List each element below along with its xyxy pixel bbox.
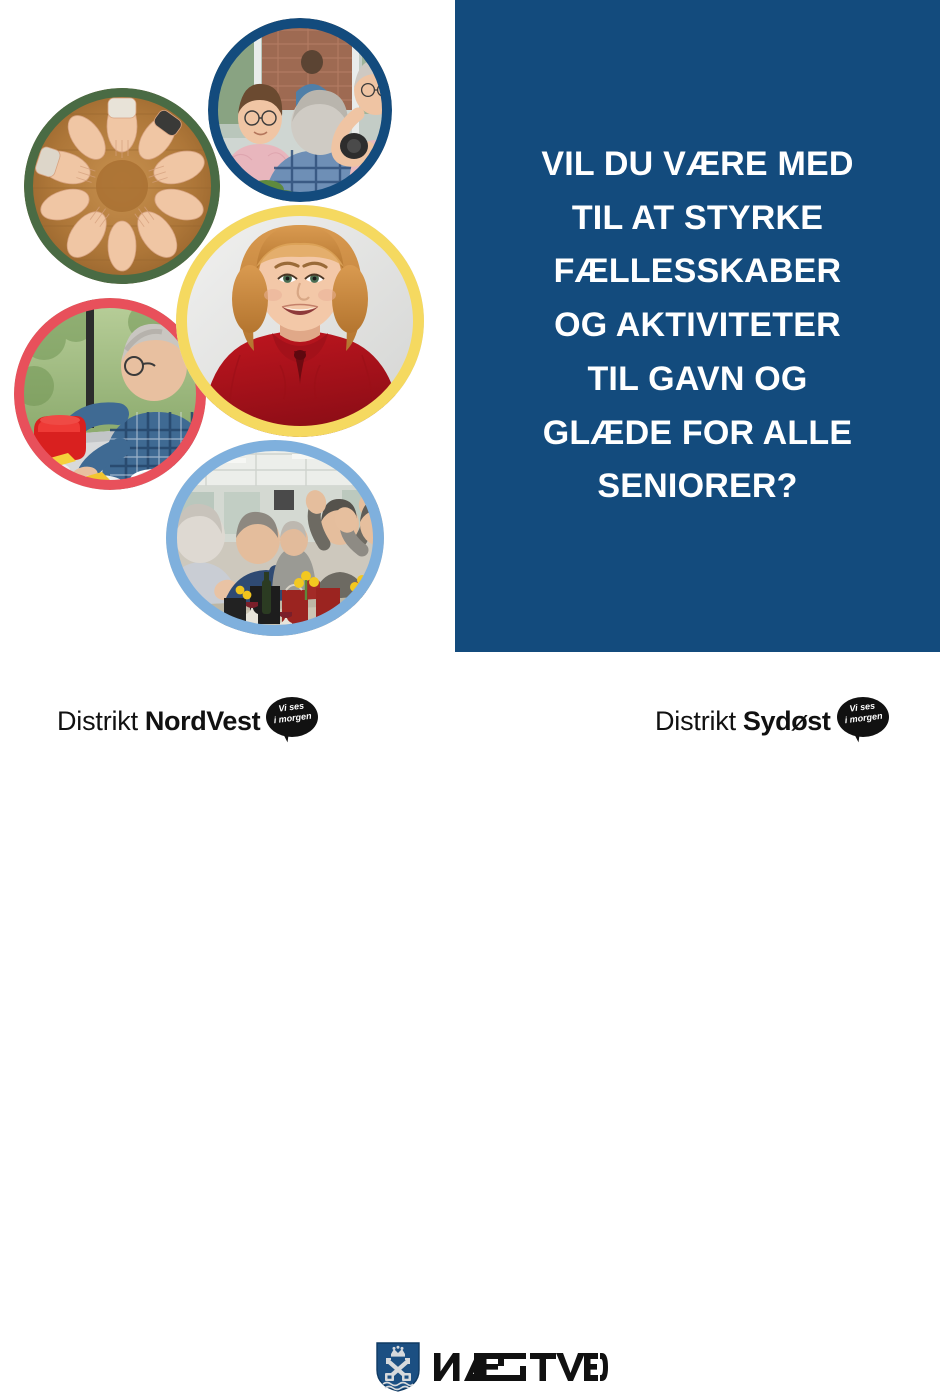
headline-line-3: FÆLLESSKABER	[483, 245, 913, 299]
naestved-shield-icon	[376, 1342, 420, 1397]
logo-distrikt-nordvest: Distrikt NordVest Vi ses i morgen	[57, 696, 318, 746]
logo-distrikt-sydost: Distrikt Sydøst Vi ses i morgen	[655, 696, 889, 746]
speech-bubble-icon: Vi ses i morgen	[833, 697, 889, 745]
headline-line-1: VIL DU VÆRE MED	[483, 138, 913, 192]
smiling-woman-portrait-image	[176, 205, 424, 437]
headline-line-7: SENIORER?	[483, 460, 913, 514]
hands-circle-image	[24, 88, 220, 284]
seniors-conversation-image	[208, 18, 392, 202]
sydost-word-light: Distrikt	[655, 706, 736, 737]
headline-line-6: GLÆDE FOR ALLE	[483, 407, 913, 461]
sydost-word-bold: Sydøst	[743, 706, 831, 737]
photo-seniors-conversation	[208, 18, 392, 202]
poster: VIL DU VÆRE MED TIL AT STYRKE FÆLLESSKAB…	[0, 0, 940, 788]
nordvest-word-bold: NordVest	[145, 706, 260, 737]
headline-panel: VIL DU VÆRE MED TIL AT STYRKE FÆLLESSKAB…	[455, 0, 940, 652]
photo-seniors-celebrating	[166, 440, 384, 636]
headline-line-4: OG AKTIVITETER	[483, 299, 913, 353]
naestved-wordmark	[434, 1352, 608, 1387]
logo-naestved-kommune	[376, 1342, 608, 1397]
photo-hands-circle	[24, 88, 220, 284]
footer-logo-bar: Distrikt NordVest Vi ses i morgen	[0, 652, 940, 788]
headline-line-5: TIL GAVN OG	[483, 353, 913, 407]
photo-smiling-woman-portrait	[176, 205, 424, 437]
seniors-celebrating-image	[166, 440, 384, 636]
photo-collage	[0, 0, 455, 652]
page-title: VIL DU VÆRE MED TIL AT STYRKE FÆLLESSKAB…	[483, 138, 913, 514]
nordvest-word-light: Distrikt	[57, 706, 138, 737]
speech-bubble-icon: Vi ses i morgen	[262, 697, 318, 745]
headline-line-2: TIL AT STYRKE	[483, 192, 913, 246]
